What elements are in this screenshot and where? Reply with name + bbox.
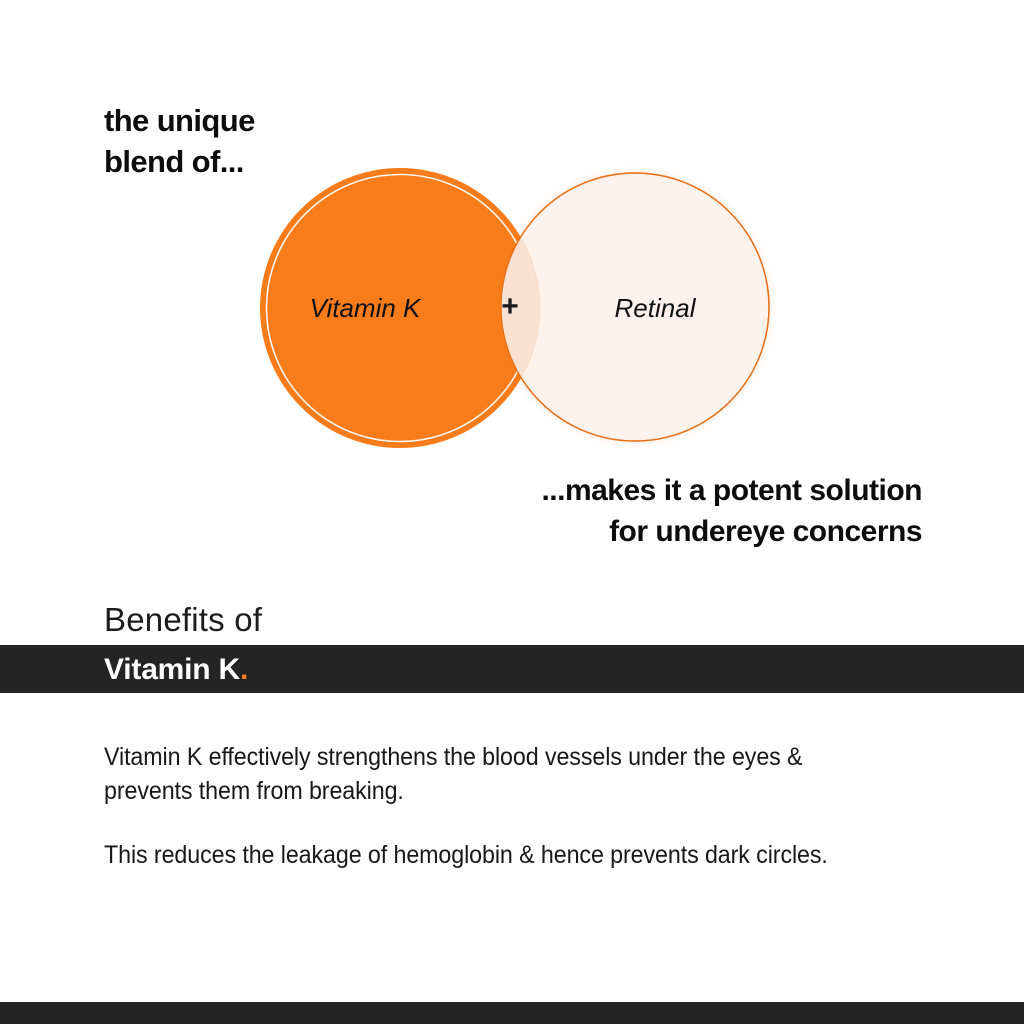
venn-label-vitamink: Vitamin K [240,293,490,324]
hero-subline: ...makes it a potent solution for undere… [222,470,922,552]
plus-icon: + [488,292,532,322]
benefits-paragraph-1: Vitamin K effectively strengthens the bl… [104,740,839,808]
venn-diagram: Vitamin K + Retinal [240,150,800,470]
benefits-title-text: Vitamin K [104,653,240,686]
benefits-body: Vitamin K effectively strengthens the bl… [104,740,894,872]
venn-label-retinal: Retinal [530,293,780,324]
benefits-paragraph-2: This reduces the leakage of hemoglobin &… [104,838,839,872]
benefits-eyebrow: Benefits of [104,601,262,639]
benefits-title-bar: Vitamin K. [0,645,1024,693]
hero-section: the unique blend of... [0,0,1024,580]
hero-headline: the unique blend of... [104,100,255,182]
benefits-title: Vitamin K. [104,652,248,688]
benefits-title-accent-dot: . [240,653,248,686]
footer-bar [0,1002,1024,1024]
